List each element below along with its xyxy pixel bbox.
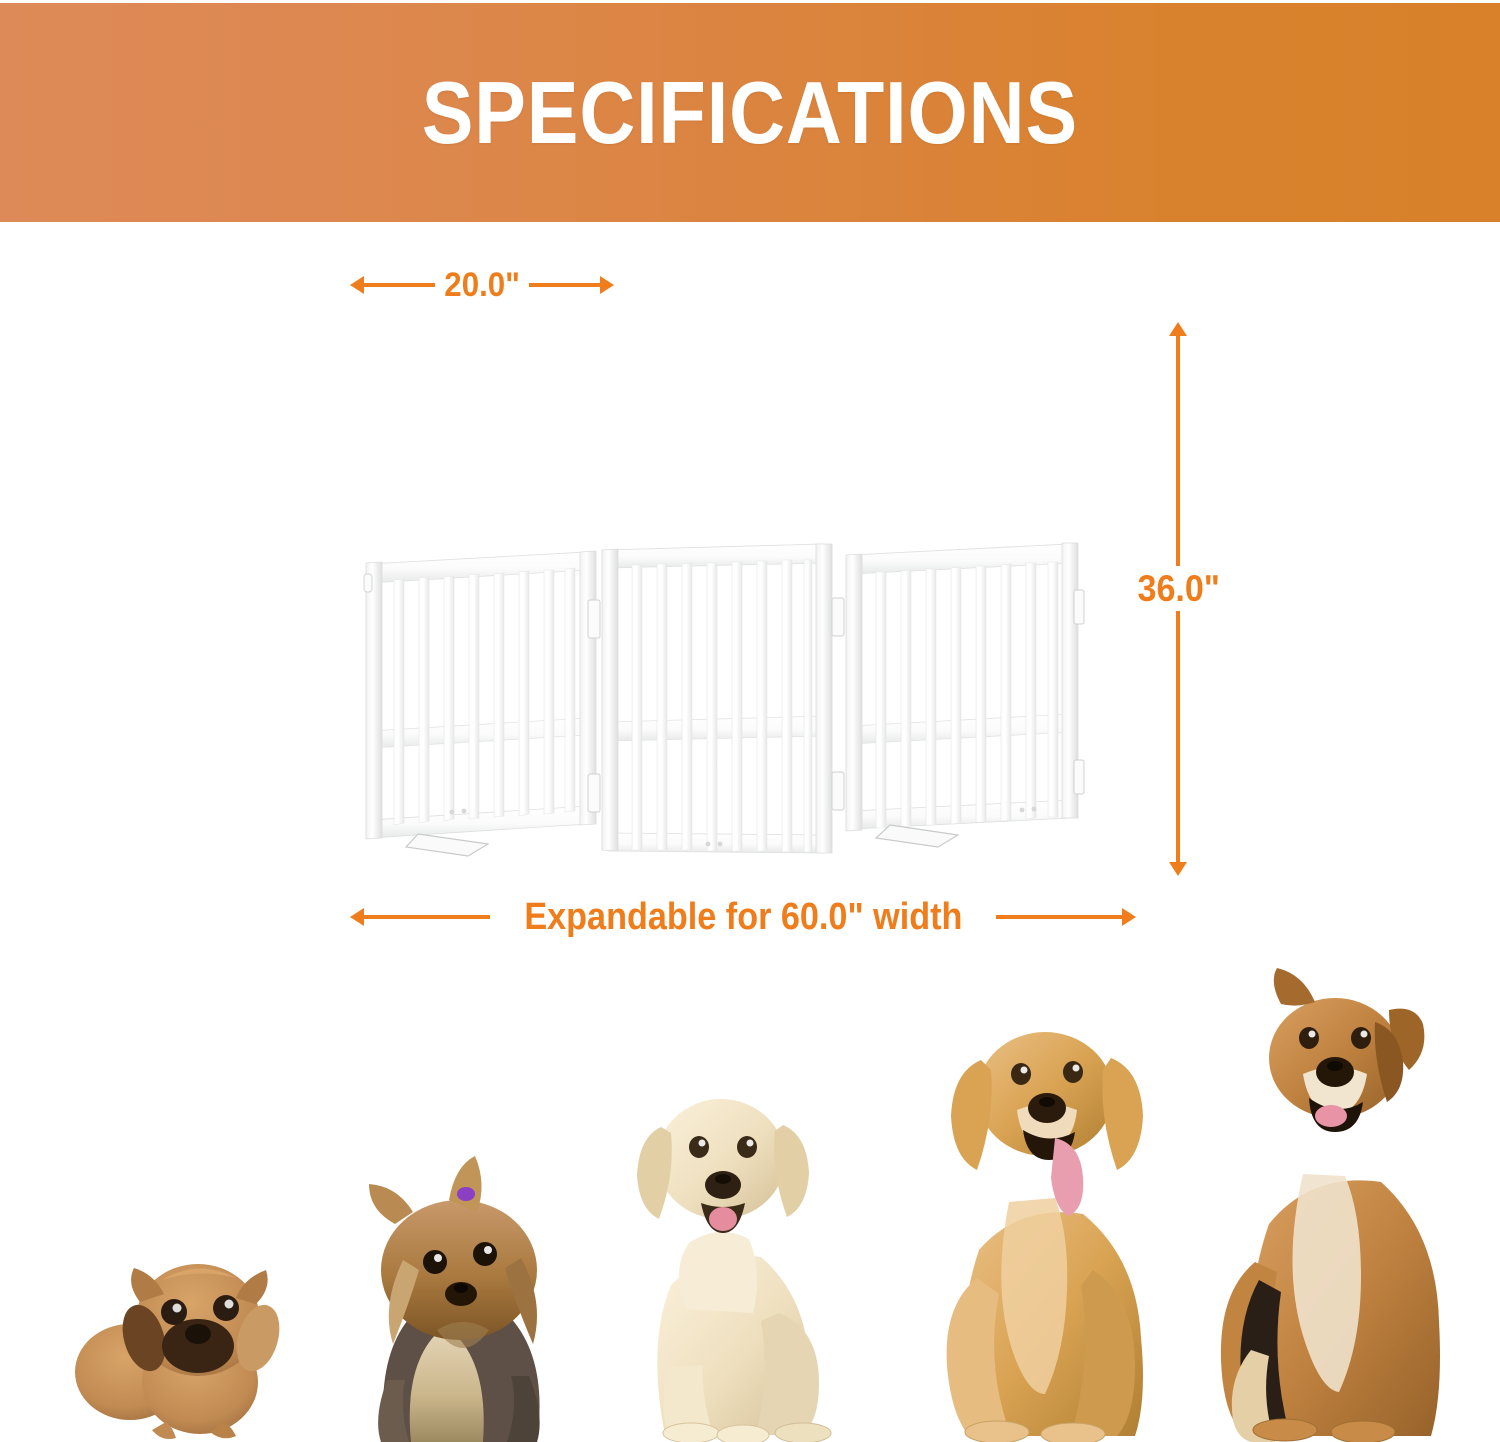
dimension-panel-width-label: 20.0" — [439, 268, 526, 302]
hinge-center-right — [832, 598, 844, 810]
header-banner: SPECIFICATIONS — [0, 3, 1500, 222]
dog-yellow-labrador-puppy — [595, 1067, 860, 1442]
pet-gate-illustration — [360, 322, 1150, 867]
dimension-gate-height: 36.0" — [1160, 334, 1196, 864]
gate-left-panel — [366, 551, 596, 856]
gate-center-panel — [602, 544, 832, 853]
support-foot-left — [406, 834, 488, 856]
dog-shepherd-mix — [1185, 962, 1485, 1442]
hinge-left-edge — [364, 574, 372, 592]
dog-golden-retriever — [905, 1002, 1190, 1442]
arrow-left-icon — [362, 283, 435, 287]
support-foot-right — [876, 825, 958, 847]
dimension-panel-width: 20.0" — [362, 262, 602, 308]
dog-size-comparison-row — [0, 930, 1500, 1442]
dimension-gate-height-label: 36.0" — [1132, 566, 1225, 611]
dog-pekingese-puppy — [70, 1242, 320, 1442]
arrow-right-icon — [529, 283, 602, 287]
dog-yorkshire-terrier — [325, 1142, 595, 1442]
gate-right-panel — [846, 543, 1078, 847]
page-title: SPECIFICATIONS — [422, 69, 1078, 157]
arrow-right-icon — [996, 915, 1124, 919]
arrow-left-icon — [362, 915, 490, 919]
specification-diagram: 20.0" 36.0" Expandable for 60.0" width — [0, 222, 1500, 942]
